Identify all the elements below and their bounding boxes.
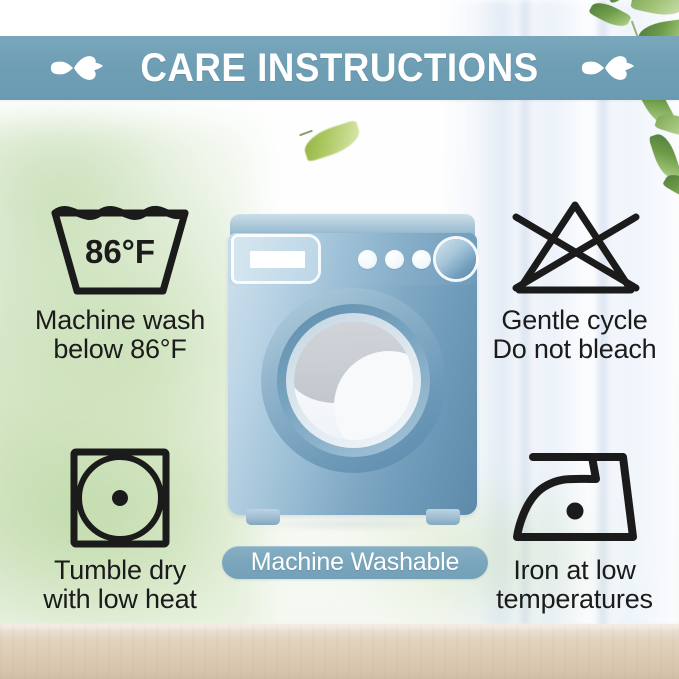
plant-sprig	[560, 0, 679, 218]
care-instructions-graphic: CARE INSTRUCTIONS 86°F Machine wash bel	[0, 0, 679, 679]
washing-machine-illustration	[228, 213, 477, 523]
care-symbol-iron-low: Iron at low temperatures	[470, 445, 679, 614]
table-wood-grain	[0, 624, 679, 679]
floating-leaf	[303, 122, 363, 162]
care-symbol-machine-wash: 86°F Machine wash below 86°F	[10, 195, 230, 364]
detergent-drawer-slot	[250, 251, 305, 268]
table-front-edge	[0, 624, 679, 631]
care-symbol-do-not-bleach: Gentle cycle Do not bleach	[470, 195, 679, 364]
header-banner: CARE INSTRUCTIONS	[0, 36, 679, 100]
wash-tub-icon: 86°F	[10, 195, 230, 300]
care-symbol-caption: Tumble dry with low heat	[10, 556, 230, 614]
machine-washable-badge: Machine Washable	[222, 546, 488, 579]
iron-one-dot-icon	[470, 445, 679, 550]
care-symbol-caption: Iron at low temperatures	[470, 556, 679, 614]
wash-temperature-label: 86°F	[85, 233, 155, 270]
machine-washable-label: Machine Washable	[251, 550, 459, 575]
triangle-crossed-bleach-icon	[470, 195, 679, 300]
indicator-dot	[358, 250, 377, 269]
fleur-de-lis-icon	[574, 46, 636, 90]
tumble-dry-low-icon	[10, 445, 230, 550]
indicator-dot	[412, 250, 431, 269]
washer-program-knob	[436, 239, 476, 279]
care-symbol-tumble-dry: Tumble dry with low heat	[10, 445, 230, 614]
page-title: CARE INSTRUCTIONS	[140, 48, 538, 88]
indicator-dot	[385, 250, 404, 269]
washer-ground-shadow	[236, 518, 471, 530]
wooden-table	[0, 624, 679, 679]
care-symbol-caption: Machine wash below 86°F	[10, 306, 230, 364]
fleur-de-lis-icon	[43, 46, 105, 90]
leaf-blade	[300, 120, 363, 163]
washer-indicator-lights	[358, 250, 432, 270]
care-symbol-caption: Gentle cycle Do not bleach	[470, 306, 679, 364]
washer-door-glass	[294, 321, 413, 440]
detergent-drawer	[234, 237, 318, 281]
